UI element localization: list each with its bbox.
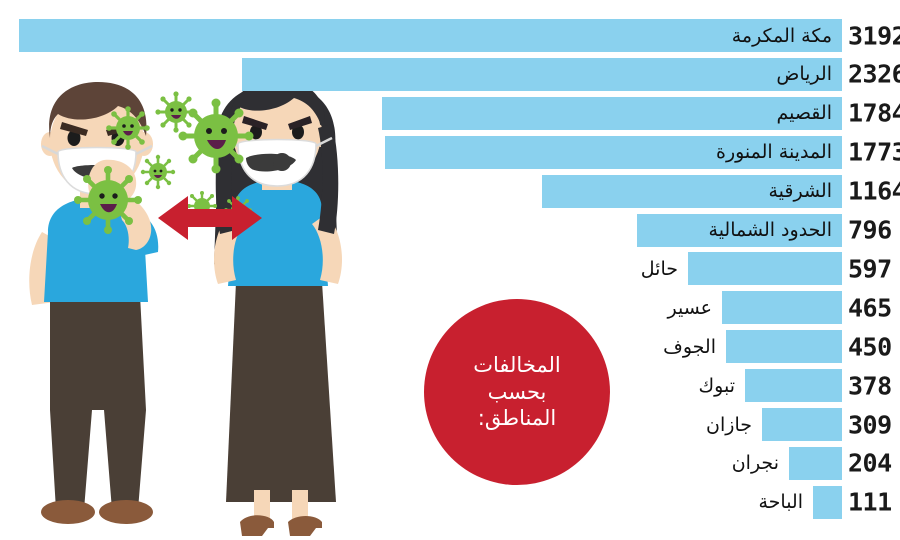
chart-row: القصيم1784: [0, 97, 900, 130]
chart-row: نجران204: [0, 447, 900, 480]
bar-value-label: 378: [848, 371, 892, 400]
bar-value-label: 111: [848, 488, 892, 517]
bar[interactable]: [726, 330, 842, 363]
bar-category-label: مكة المكرمة: [732, 25, 832, 47]
bar-value-label: 465: [848, 293, 892, 322]
bar-value-label: 796: [848, 216, 892, 245]
bar[interactable]: [722, 291, 842, 324]
chart-row: عسير465: [0, 291, 900, 324]
bar-category-label: جازان: [706, 414, 752, 436]
bar-category-label: الباحة: [758, 491, 803, 513]
chart-row: تبوك378: [0, 369, 900, 402]
bar-value-label: 1164: [848, 177, 900, 206]
bar-category-label: نجران: [732, 452, 779, 474]
chart-row: مكة المكرمة3192: [0, 19, 900, 52]
bar[interactable]: [789, 447, 842, 480]
bar[interactable]: [382, 97, 842, 130]
bar-category-label: المدينة المنورة: [716, 141, 832, 163]
bar[interactable]: [745, 369, 842, 402]
bar-value-label: 309: [848, 410, 892, 439]
bar[interactable]: [813, 486, 842, 519]
bar[interactable]: [762, 408, 842, 441]
bar-category-label: القصيم: [776, 102, 832, 124]
bar-value-label: 2326: [848, 60, 900, 89]
bar-category-label: تبوك: [699, 375, 736, 397]
chart-row: جازان309: [0, 408, 900, 441]
bar[interactable]: [242, 58, 842, 91]
bar-category-label: الحدود الشمالية: [709, 219, 832, 241]
bar-value-label: 597: [848, 254, 892, 283]
bar[interactable]: [688, 252, 842, 285]
chart-row: الرياض2326: [0, 58, 900, 91]
bar-category-label: عسير: [667, 297, 712, 319]
bar-category-label: الرياض: [776, 63, 832, 85]
bar-value-label: 204: [848, 449, 892, 478]
bar-value-label: 1784: [848, 99, 900, 128]
bar-category-label: حائل: [641, 258, 678, 280]
bar-value-label: 450: [848, 332, 892, 361]
infographic-canvas: المخالفات بحسب المناطق: مكة المكرمة3192ا…: [0, 0, 900, 540]
bar[interactable]: [19, 19, 842, 52]
chart-row: الباحة111: [0, 486, 900, 519]
bar-chart: مكة المكرمة3192الرياض2326القصيم1784المدي…: [0, 0, 900, 540]
bar-value-label: 3192: [848, 21, 900, 50]
chart-row: حائل597: [0, 252, 900, 285]
chart-row: المدينة المنورة1773: [0, 136, 900, 169]
chart-row: الشرقية1164: [0, 175, 900, 208]
bar-category-label: الشرقية: [768, 180, 832, 202]
bar-category-label: الجوف: [663, 336, 716, 358]
chart-row: الجوف450: [0, 330, 900, 363]
chart-row: الحدود الشمالية796: [0, 214, 900, 247]
bar-value-label: 1773: [848, 138, 900, 167]
